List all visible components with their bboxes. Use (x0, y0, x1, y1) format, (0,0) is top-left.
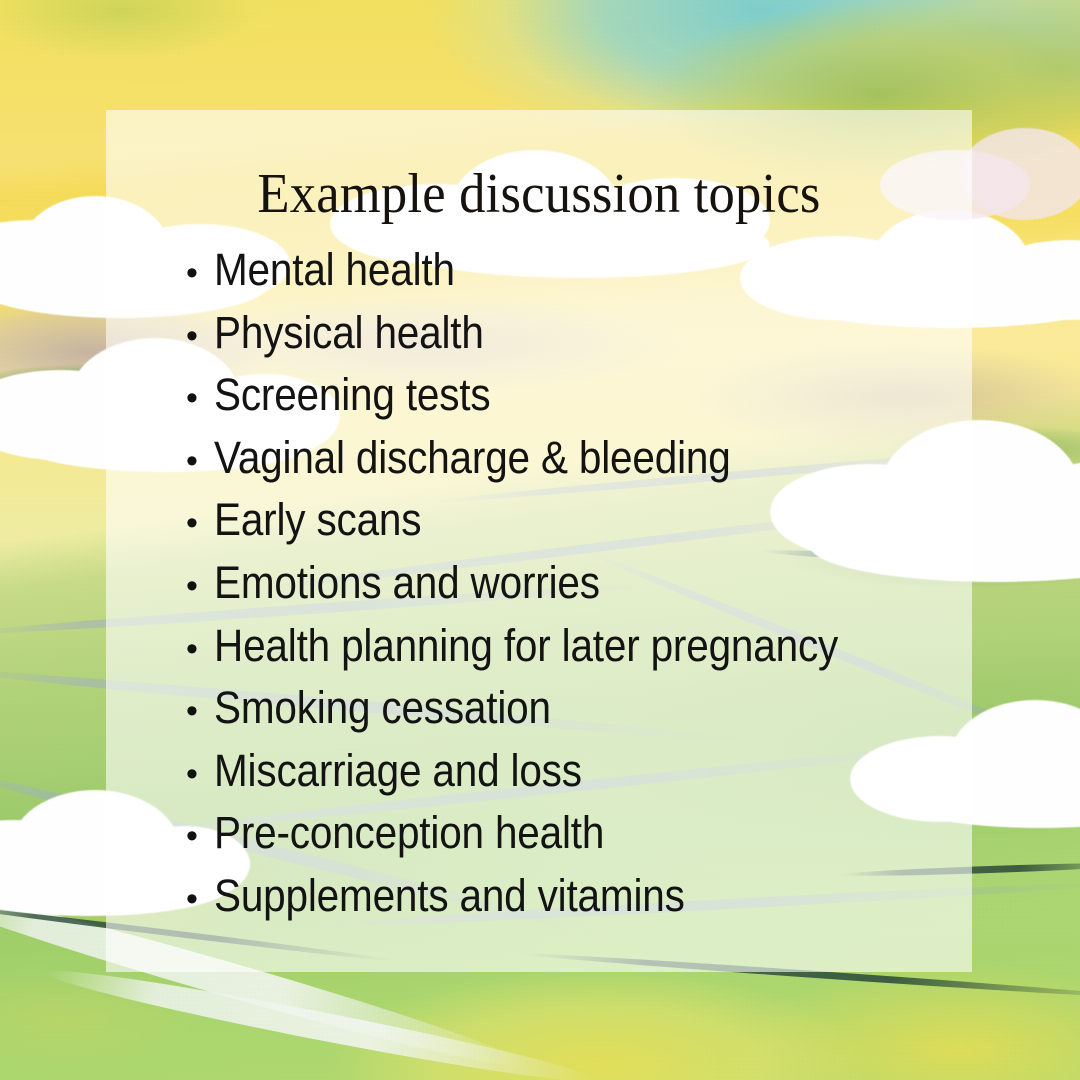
topic-label: Health planning for later pregnancy (214, 623, 909, 668)
list-item: • Miscarriage and loss (186, 748, 986, 811)
topic-label: Vaginal discharge & bleeding (214, 435, 909, 480)
topic-label: Physical health (214, 310, 909, 355)
list-item: • Screening tests (186, 372, 986, 435)
bullet-point-icon: • (186, 569, 214, 603)
topic-label: Miscarriage and loss (214, 748, 909, 793)
bullet-point-icon: • (186, 632, 214, 666)
bullet-point-icon: • (186, 444, 214, 478)
bullet-point-icon: • (186, 694, 214, 728)
bullet-point-icon: • (186, 256, 214, 290)
bullet-point-icon: • (186, 506, 214, 540)
list-item: • Smoking cessation (186, 685, 986, 748)
topic-label: Pre-conception health (214, 810, 909, 855)
list-item: • Vaginal discharge & bleeding (186, 435, 986, 498)
topic-label: Smoking cessation (214, 685, 909, 730)
topic-label: Emotions and worries (214, 560, 909, 605)
list-item: • Emotions and worries (186, 560, 986, 623)
bullet-point-icon: • (186, 319, 214, 353)
list-item: • Pre-conception health (186, 810, 986, 873)
list-item: • Mental health (186, 247, 986, 310)
bullet-point-icon: • (186, 381, 214, 415)
topic-label: Early scans (214, 497, 909, 542)
discussion-topics-list: • Mental health • Physical health • Scre… (186, 247, 986, 936)
list-item: • Physical health (186, 310, 986, 373)
topic-label: Mental health (214, 247, 909, 292)
bullet-point-icon: • (186, 819, 214, 853)
content-panel: Example discussion topics • Mental healt… (106, 110, 972, 972)
bullet-point-icon: • (186, 757, 214, 791)
list-item: • Early scans (186, 497, 986, 560)
bullet-point-icon: • (186, 882, 214, 916)
slide-canvas: Example discussion topics • Mental healt… (0, 0, 1080, 1080)
list-item: • Supplements and vitamins (186, 873, 986, 936)
topic-label: Supplements and vitamins (214, 873, 909, 918)
list-item: • Health planning for later pregnancy (186, 623, 986, 686)
page-title: Example discussion topics (132, 162, 946, 226)
topic-label: Screening tests (214, 372, 909, 417)
